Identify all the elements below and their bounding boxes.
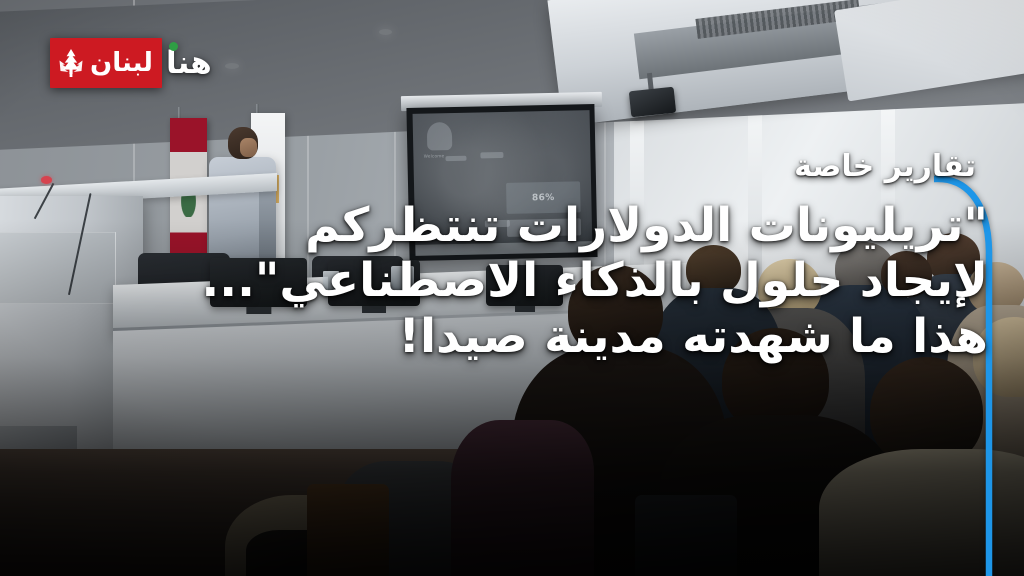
- audience-body: [819, 449, 1024, 576]
- headline: "تريليونات الدولارات تنتظركم لإيجاد حلول…: [28, 199, 988, 365]
- audience-body: [451, 420, 594, 576]
- ceiling-light: [379, 29, 392, 35]
- video-thumbnail-frame: Welcome Sea 86%: [0, 0, 1024, 576]
- chair: [307, 484, 389, 576]
- text-overlay: تقارير خاصة "تريليونات الدولارات تنتظركم…: [28, 150, 988, 365]
- logo-word-inner: لبنان: [90, 50, 153, 76]
- cedar-tree-icon: [57, 48, 85, 78]
- kicker-label: تقارير خاصة: [28, 150, 976, 183]
- logo-word-outer-text: هنا: [166, 48, 212, 79]
- logo-red-box: لبنان: [50, 38, 162, 88]
- logo-green-dot: [169, 42, 178, 51]
- chair: [635, 495, 737, 576]
- slide-figure-icon: [426, 122, 451, 151]
- headline-line-2: لإيجاد حلول بالذكاء الاصطناعي"...: [28, 254, 988, 309]
- logo-word-outer: هنا: [162, 38, 218, 88]
- projector: [628, 86, 676, 117]
- channel-logo[interactable]: هنا لبنان: [50, 38, 218, 88]
- headline-line-1: "تريليونات الدولارات تنتظركم: [28, 199, 988, 254]
- headline-line-3: هذا ما شهدته مدينة صيدا!: [28, 310, 988, 365]
